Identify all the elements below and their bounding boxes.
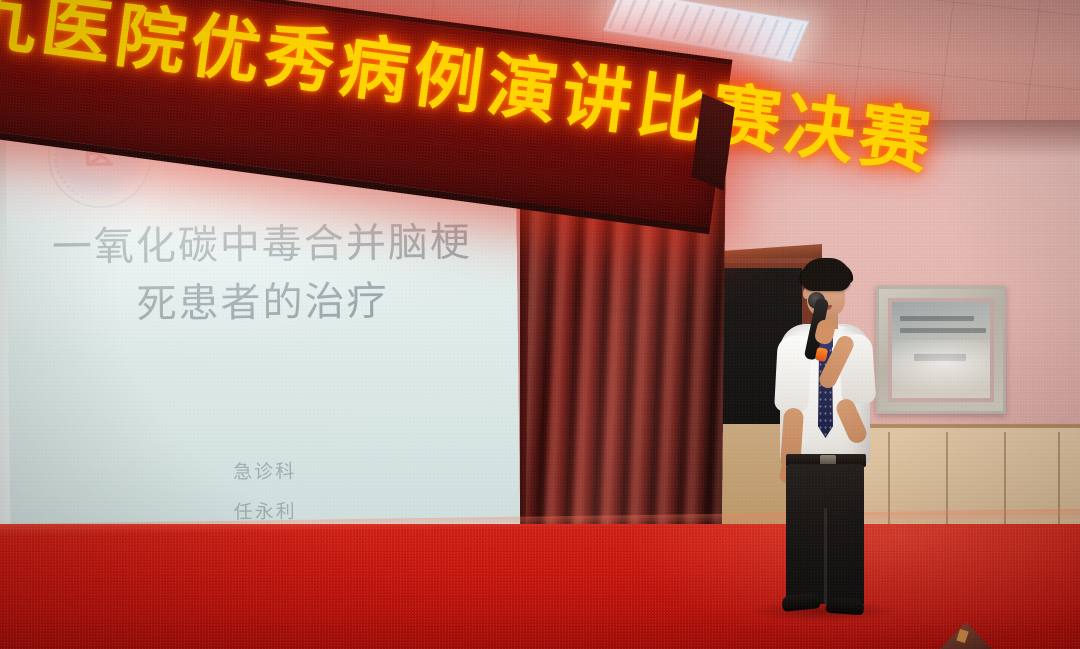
speaker-shoe-right [825,597,864,616]
speaker-leg-seam [824,508,827,604]
plaque-glass-sheen [888,340,994,398]
speaker-shoe-left [781,592,820,612]
speaker-hair [801,258,851,291]
framed-wall-plaque [876,286,1006,414]
plaque-inner-panel [888,298,994,402]
red-carpet-floor [0,524,1080,649]
photo-scene: 医 邢台市第九医院/巨鹿县医院 一氧化碳中毒合并脑梗 死患者的治疗 急诊科 任永… [0,0,1080,649]
presenter-person [758,258,884,618]
